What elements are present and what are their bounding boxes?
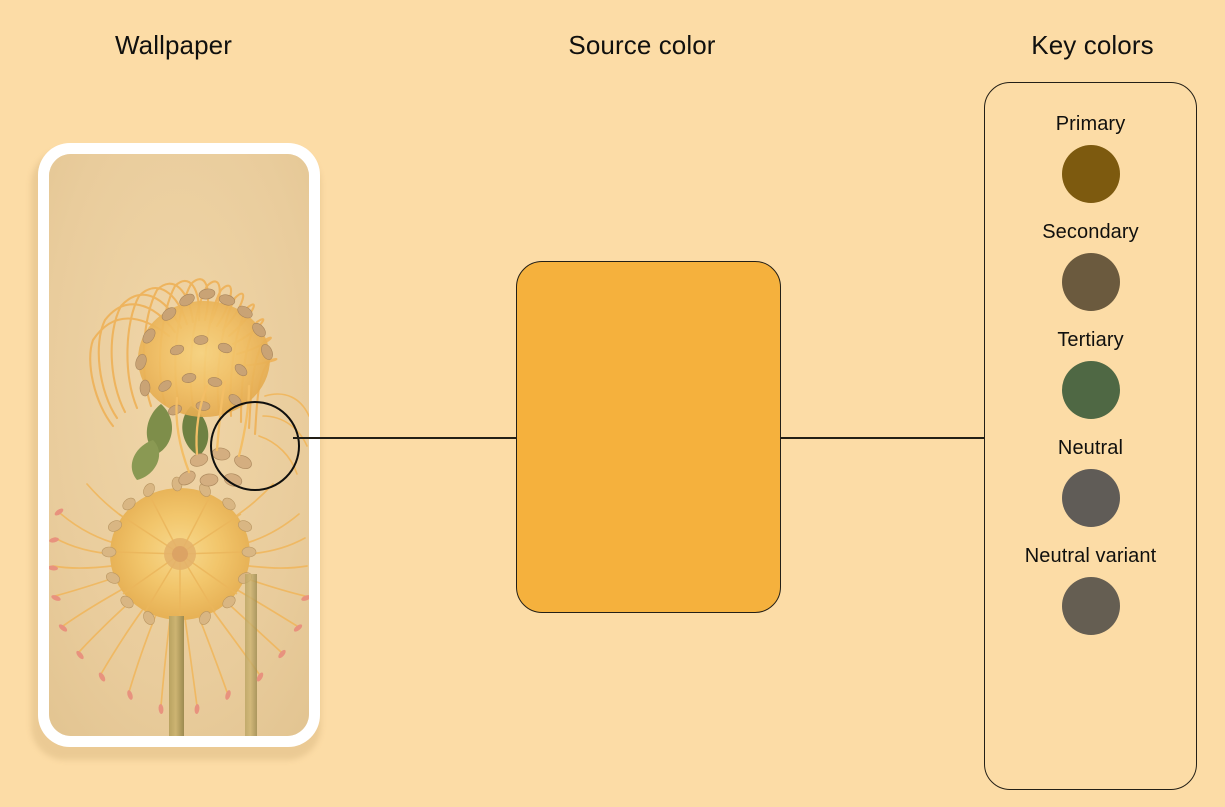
key-colors-column-title: Key colors bbox=[960, 30, 1225, 61]
key-color-item-neutral[interactable]: Neutral bbox=[985, 437, 1196, 527]
wallpaper-to-source-connector bbox=[293, 437, 517, 439]
key-color-dot-tertiary[interactable] bbox=[1062, 361, 1120, 419]
key-color-dot-secondary[interactable] bbox=[1062, 253, 1120, 311]
key-color-label: Neutral variant bbox=[1025, 545, 1157, 568]
key-color-label: Secondary bbox=[1042, 221, 1139, 244]
key-color-item-secondary[interactable]: Secondary bbox=[985, 221, 1196, 311]
source-color-picker-circle[interactable] bbox=[210, 401, 300, 491]
key-color-dot-neutral[interactable] bbox=[1062, 469, 1120, 527]
key-color-item-primary[interactable]: Primary bbox=[985, 113, 1196, 203]
diagram-canvas: Wallpaper Source color Key colors bbox=[0, 0, 1225, 807]
key-color-dot-neutral-variant[interactable] bbox=[1062, 577, 1120, 635]
key-color-item-tertiary[interactable]: Tertiary bbox=[985, 329, 1196, 419]
source-color-column-title: Source color bbox=[440, 30, 844, 61]
key-color-label: Neutral bbox=[1058, 437, 1123, 460]
key-color-label: Tertiary bbox=[1057, 329, 1123, 352]
key-color-item-neutral-variant[interactable]: Neutral variant bbox=[985, 545, 1196, 635]
source-color-swatch[interactable] bbox=[516, 261, 781, 613]
phone-screen bbox=[49, 154, 309, 736]
phone-mockup bbox=[38, 143, 320, 747]
source-to-key-colors-connector bbox=[781, 437, 984, 439]
key-color-label: Primary bbox=[1056, 113, 1126, 136]
key-colors-panel: Primary Secondary Tertiary Neutral Neutr… bbox=[984, 82, 1197, 790]
key-color-dot-primary[interactable] bbox=[1062, 145, 1120, 203]
wallpaper-column-title: Wallpaper bbox=[0, 30, 347, 61]
